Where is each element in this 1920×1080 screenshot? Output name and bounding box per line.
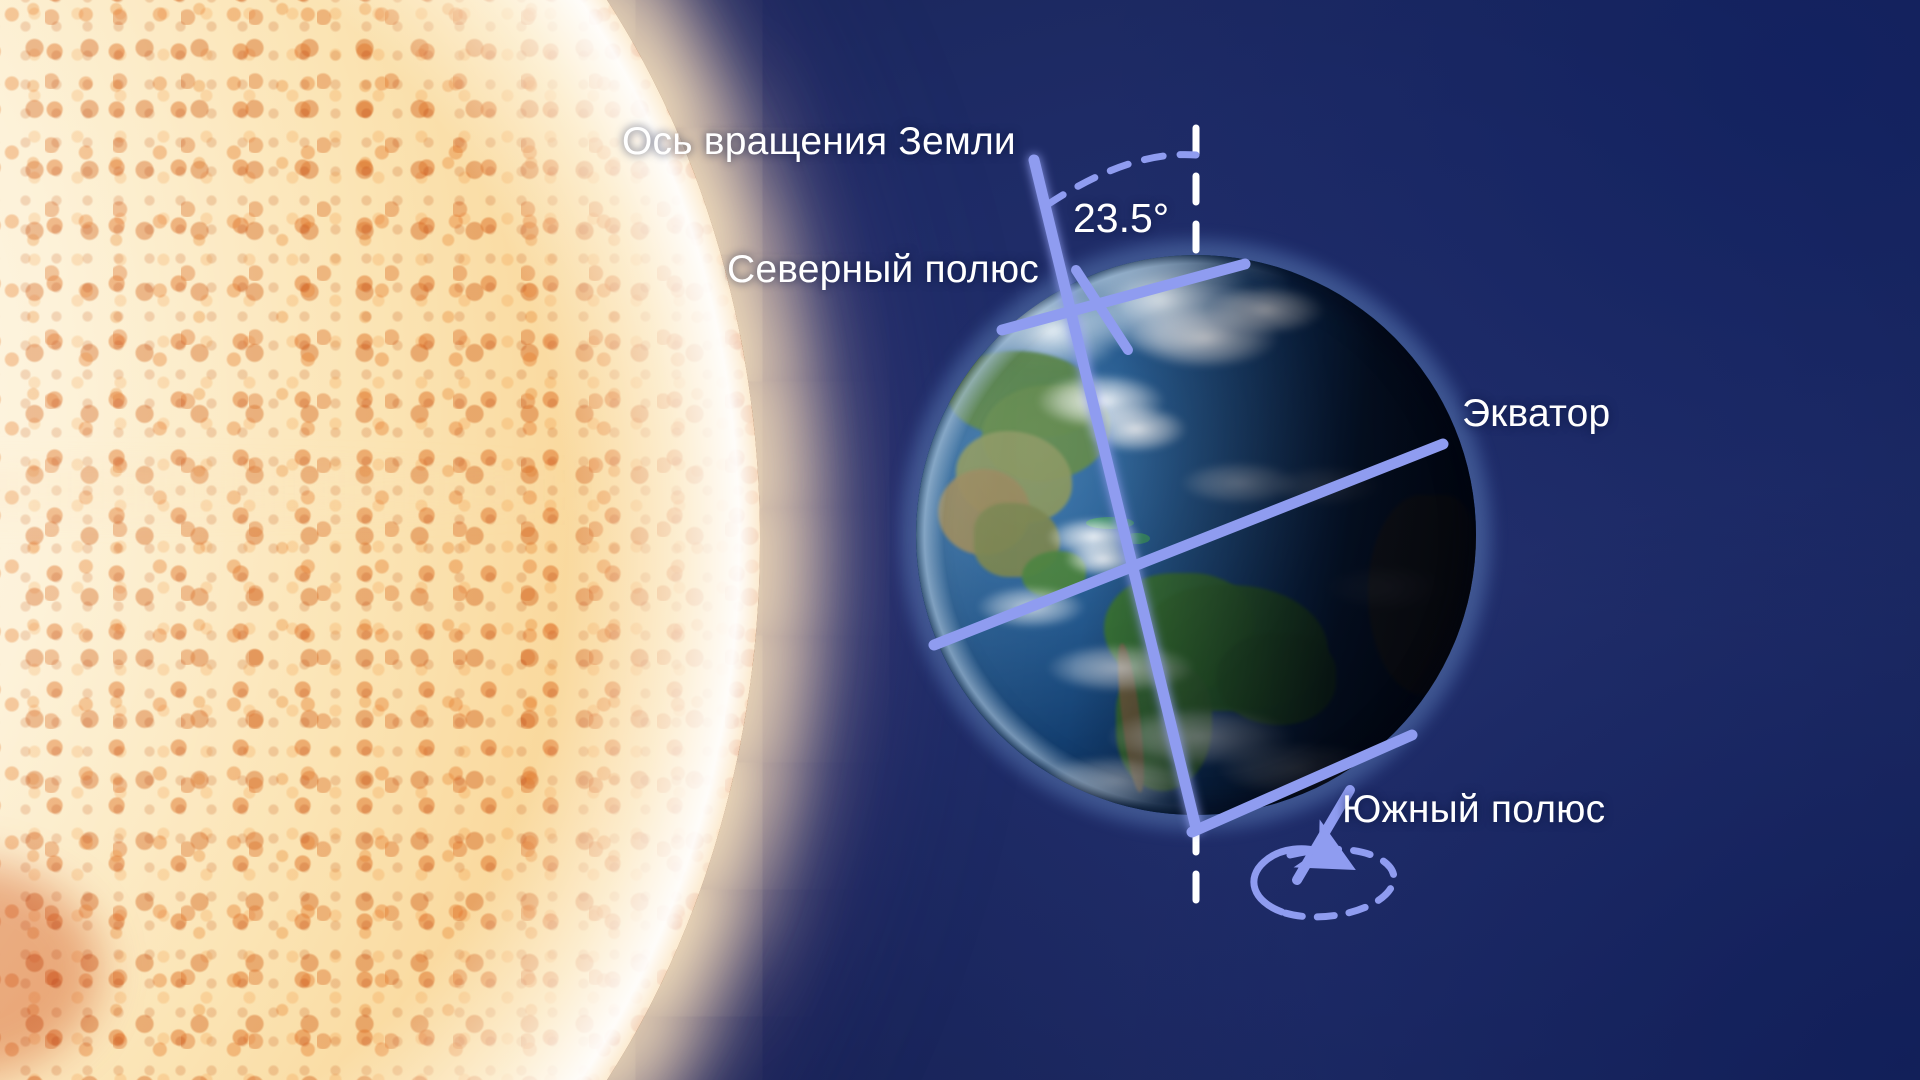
- diagram-canvas: Ось вращения Земли Северный полюс 23.5° …: [0, 0, 1920, 1080]
- label-earth-rotation-axis: Ось вращения Земли: [622, 122, 1016, 161]
- equator-line: [934, 444, 1443, 645]
- label-tilt-angle: 23.5°: [1073, 195, 1169, 242]
- label-north-pole: Северный полюс: [727, 250, 1039, 289]
- label-equator: Экватор: [1462, 394, 1610, 433]
- earth-rotation-axis: [1034, 160, 1196, 828]
- label-south-pole: Южный полюс: [1342, 790, 1605, 829]
- rotation-direction-arrow: [1254, 849, 1330, 912]
